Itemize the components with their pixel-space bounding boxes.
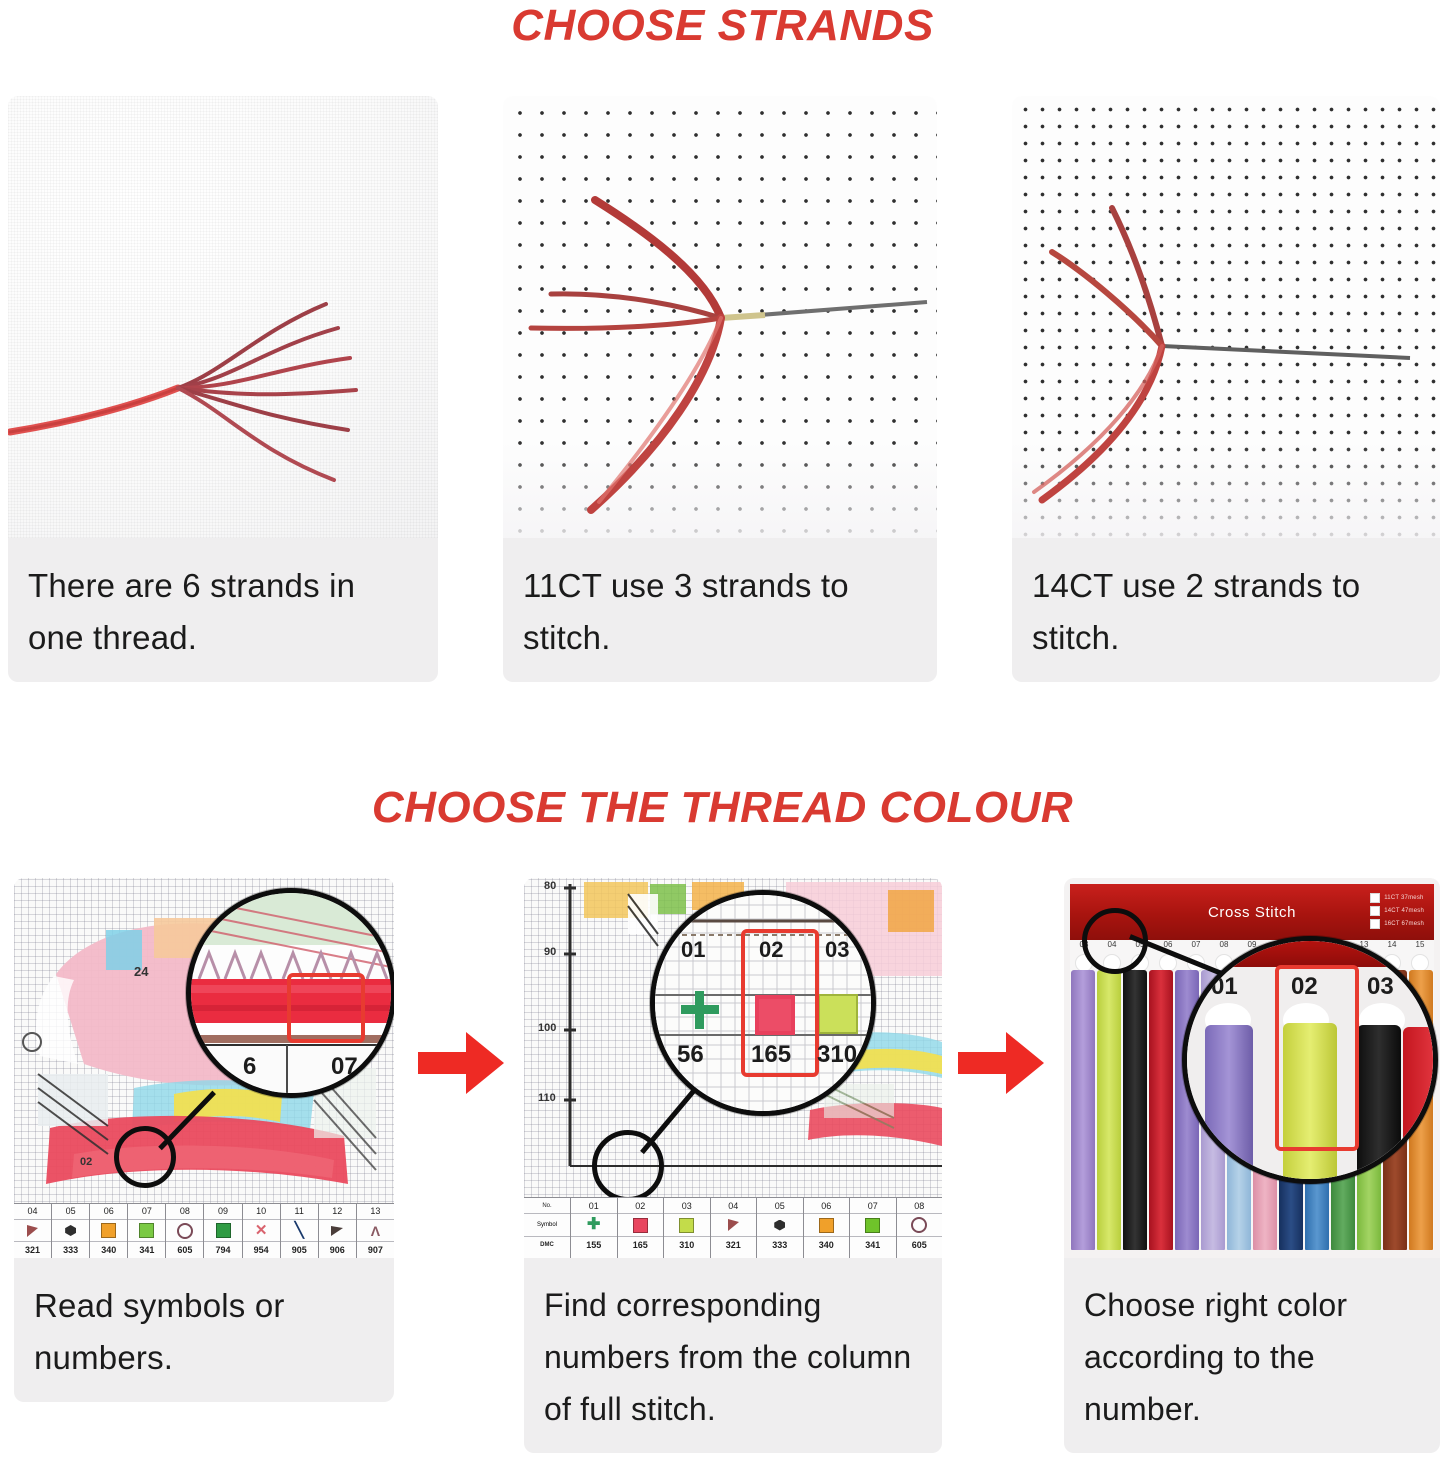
chart-cell-number-24: 24 bbox=[134, 964, 148, 979]
legend-number: 12 bbox=[319, 1204, 356, 1220]
legend-number: 06 bbox=[804, 1198, 850, 1214]
card-caption: There are 6 strands in one thread. bbox=[8, 538, 438, 682]
arrow-step-1-to-2-icon bbox=[416, 1030, 506, 1096]
symbol-legend-photo: 80 90 100 110 bbox=[524, 878, 942, 1258]
legend-column: 01 ✚ 155 bbox=[571, 1198, 618, 1258]
legend-symbol-triangle bbox=[711, 1214, 757, 1237]
full-stitch-legend: No. Symbol DMC 01 ✚ 155 02 165 bbox=[524, 1197, 942, 1258]
needle-and-three-strands-illustration bbox=[503, 96, 937, 538]
lens-number-02: 02 bbox=[759, 937, 783, 963]
legend-number: 13 bbox=[357, 1204, 394, 1220]
legend-code: 333 bbox=[757, 1237, 803, 1253]
legend-number: 04 bbox=[14, 1204, 51, 1220]
legend-symbol-slash: ╲ bbox=[281, 1220, 318, 1243]
floss-bundle-03 bbox=[1357, 1025, 1401, 1175]
legend-number: 05 bbox=[757, 1198, 803, 1214]
legend-column: 07 341 bbox=[128, 1204, 166, 1258]
legend-code: 310 bbox=[664, 1237, 710, 1253]
legend-column: 04 321 bbox=[14, 1204, 52, 1258]
legend-code: 341 bbox=[850, 1237, 896, 1253]
legend-symbol-pen-nib bbox=[319, 1220, 356, 1243]
legend-symbol-red-square bbox=[618, 1214, 664, 1237]
legend-symbol-orange-square bbox=[90, 1220, 127, 1243]
legend-symbol-green-square bbox=[850, 1214, 896, 1237]
checkbox-icon[interactable] bbox=[1370, 919, 1380, 929]
thread-card-title: Cross Stitch bbox=[1208, 904, 1296, 921]
legend-code: 340 bbox=[90, 1242, 127, 1258]
legend-row-label-no: No. bbox=[524, 1198, 570, 1214]
floss-skein bbox=[1123, 970, 1147, 1250]
legend-symbol-hexagon bbox=[52, 1220, 89, 1243]
legend-column: 07 341 bbox=[850, 1198, 897, 1258]
legend-symbol-open-circle bbox=[897, 1214, 943, 1237]
thread-card-photo: Cross Stitch 11CT 37mesh 14CT 47mesh bbox=[1064, 878, 1440, 1258]
card-caption: Choose right color according to the numb… bbox=[1064, 1258, 1440, 1453]
checkbox-icon[interactable] bbox=[1370, 893, 1380, 903]
magnifier-lens: 01 02 03 bbox=[1182, 936, 1438, 1184]
lens-content: 01 02 03 bbox=[1187, 941, 1433, 1179]
legend-code: 905 bbox=[281, 1242, 318, 1258]
legend-number: 03 bbox=[664, 1198, 710, 1214]
legend-column: 02 165 bbox=[618, 1198, 665, 1258]
chart-cell-number-02: 02 bbox=[80, 1156, 92, 1168]
thread-card-option: 11CT 37mesh bbox=[1370, 893, 1424, 903]
arrow-step-2-to-3-icon bbox=[956, 1030, 1046, 1096]
card-14ct-two-strands: 14CT use 2 strands to stitch. bbox=[1012, 96, 1440, 682]
legend-code: 340 bbox=[804, 1237, 850, 1253]
card-six-strands: There are 6 strands in one thread. bbox=[8, 96, 438, 682]
legend-code: 906 bbox=[319, 1242, 356, 1258]
legend-code: 605 bbox=[166, 1242, 203, 1258]
thread-card-option: 14CT 47mesh bbox=[1370, 906, 1424, 916]
legend-symbol-hexagon bbox=[757, 1214, 803, 1237]
lens-code-01: 56 bbox=[677, 1041, 704, 1069]
chart-symbol-legend: 04 321 05 333 06 340 07 bbox=[14, 1203, 394, 1258]
lens-code-03: 310 bbox=[817, 1041, 857, 1069]
legend-number: 06 bbox=[90, 1204, 127, 1220]
legend-row-label-dmc: DMC bbox=[524, 1237, 570, 1253]
six-strands-photo bbox=[8, 96, 438, 538]
card-choose-color: Cross Stitch 11CT 37mesh 14CT 47mesh bbox=[1064, 878, 1440, 1453]
legend-number: 01 bbox=[571, 1198, 617, 1214]
legend-column: 10 ✕ 954 bbox=[243, 1204, 281, 1258]
card-read-symbols: 24 02 bbox=[14, 878, 394, 1402]
magnifier-focus-circle bbox=[114, 1126, 176, 1188]
legend-code: 794 bbox=[204, 1242, 241, 1258]
legend-column: 05 333 bbox=[757, 1198, 804, 1258]
legend-symbol-x-mark: ✕ bbox=[243, 1220, 280, 1243]
legend-number: 02 bbox=[618, 1198, 664, 1214]
lens-content: 6 07 bbox=[191, 893, 391, 1093]
legend-column: 04 321 bbox=[711, 1198, 758, 1258]
legend-symbol-open-circle bbox=[166, 1220, 203, 1243]
thread-card-option: 16CT 67mesh bbox=[1370, 919, 1424, 929]
lens-code-02: 165 bbox=[751, 1041, 791, 1069]
lens-highlight-box bbox=[287, 973, 365, 1043]
legend-row-label-symbol: Symbol bbox=[524, 1214, 570, 1237]
legend-number: 09 bbox=[204, 1204, 241, 1220]
legend-column: 12 906 bbox=[319, 1204, 357, 1258]
card-caption: 14CT use 2 strands to stitch. bbox=[1012, 538, 1440, 682]
card-caption: 11CT use 3 strands to stitch. bbox=[503, 538, 937, 682]
floss-skein bbox=[1071, 970, 1095, 1250]
legend-code: 333 bbox=[52, 1242, 89, 1258]
legend-code: 155 bbox=[571, 1237, 617, 1253]
magnifier-lens: 6 07 bbox=[186, 888, 394, 1098]
aida-11ct-needle-photo bbox=[503, 96, 937, 538]
legend-row-labels: No. Symbol DMC bbox=[524, 1198, 571, 1258]
legend-symbol-dark-green-square bbox=[204, 1220, 241, 1243]
legend-number: 08 bbox=[897, 1198, 943, 1214]
section-heading-choose-thread-colour: CHOOSE THE THREAD COLOUR bbox=[0, 786, 1445, 830]
floss-skein bbox=[1149, 970, 1173, 1250]
legend-column: 08 605 bbox=[166, 1204, 204, 1258]
legend-number: 08 bbox=[166, 1204, 203, 1220]
lens-number-03: 03 bbox=[1367, 973, 1394, 1001]
legend-code: 165 bbox=[618, 1237, 664, 1253]
legend-number: 05 bbox=[52, 1204, 89, 1220]
legend-symbol-lambda: Λ bbox=[357, 1220, 394, 1243]
legend-code: 605 bbox=[897, 1237, 943, 1253]
legend-column: 09 794 bbox=[204, 1204, 242, 1258]
option-label: 11CT 37mesh bbox=[1384, 895, 1423, 901]
needle-and-two-strands-illustration bbox=[1012, 96, 1440, 538]
option-label: 16CT 67mesh bbox=[1384, 921, 1424, 927]
colour-card-row: 24 02 bbox=[0, 878, 1445, 1476]
card-11ct-three-strands: 11CT use 3 strands to stitch. bbox=[503, 96, 937, 682]
legend-symbol-orange-square bbox=[804, 1214, 850, 1237]
legend-number: 04 bbox=[711, 1198, 757, 1214]
lens-number-01: 01 bbox=[681, 937, 705, 963]
legend-code: 341 bbox=[128, 1242, 165, 1258]
card-find-numbers: 80 90 100 110 bbox=[524, 878, 942, 1453]
legend-column: 13 Λ 907 bbox=[357, 1204, 394, 1258]
legend-symbol-triangle bbox=[14, 1220, 51, 1243]
legend-code: 907 bbox=[357, 1242, 394, 1258]
floss-bundle-04 bbox=[1403, 1027, 1433, 1175]
magnifier-lens: 01 02 03 56 165 310 bbox=[650, 890, 876, 1116]
lens-label-right: 07 bbox=[331, 1053, 358, 1081]
six-strands-illustration bbox=[8, 96, 438, 538]
section-heading-choose-strands: CHOOSE STRANDS bbox=[0, 4, 1445, 48]
aida-14ct-needle-photo bbox=[1012, 96, 1440, 538]
legend-column: 08 605 bbox=[897, 1198, 943, 1258]
lens-number-03: 03 bbox=[825, 937, 849, 963]
legend-column: 11 ╲ 905 bbox=[281, 1204, 319, 1258]
floss-bundle-01 bbox=[1205, 1025, 1253, 1175]
lens-number-01: 01 bbox=[1211, 973, 1238, 1001]
legend-code: 321 bbox=[711, 1237, 757, 1253]
lens-label-left: 6 bbox=[243, 1053, 256, 1081]
lens-content: 01 02 03 56 165 310 bbox=[655, 895, 871, 1111]
legend-number: 07 bbox=[850, 1198, 896, 1214]
card-caption: Find corresponding numbers from the colu… bbox=[524, 1258, 942, 1453]
checkbox-icon[interactable] bbox=[1370, 906, 1380, 916]
legend-column: 05 333 bbox=[52, 1204, 90, 1258]
legend-symbol-yellow-green-square bbox=[664, 1214, 710, 1237]
thread-card-options: 11CT 37mesh 14CT 47mesh 16CT 67mesh bbox=[1370, 893, 1424, 929]
legend-code: 954 bbox=[243, 1242, 280, 1258]
floss-skein bbox=[1097, 970, 1121, 1250]
legend-symbol-green-square bbox=[128, 1220, 165, 1243]
legend-symbol-green-plus: ✚ bbox=[571, 1214, 617, 1237]
pattern-chart-photo: 24 02 bbox=[14, 878, 394, 1258]
legend-number: 07 bbox=[128, 1204, 165, 1220]
legend-code: 321 bbox=[14, 1242, 51, 1258]
legend-number: 11 bbox=[281, 1204, 318, 1220]
strands-card-row: There are 6 strands in one thread. bbox=[0, 96, 1445, 746]
legend-column: 06 340 bbox=[90, 1204, 128, 1258]
legend-column: 03 310 bbox=[664, 1198, 711, 1258]
legend-column: 06 340 bbox=[804, 1198, 851, 1258]
card-caption: Read symbols or numbers. bbox=[14, 1258, 394, 1402]
lens-number-02: 02 bbox=[1291, 973, 1318, 1001]
infographic-page: CHOOSE STRANDS bbox=[0, 0, 1445, 1476]
option-label: 14CT 47mesh bbox=[1384, 908, 1424, 914]
legend-number: 10 bbox=[243, 1204, 280, 1220]
